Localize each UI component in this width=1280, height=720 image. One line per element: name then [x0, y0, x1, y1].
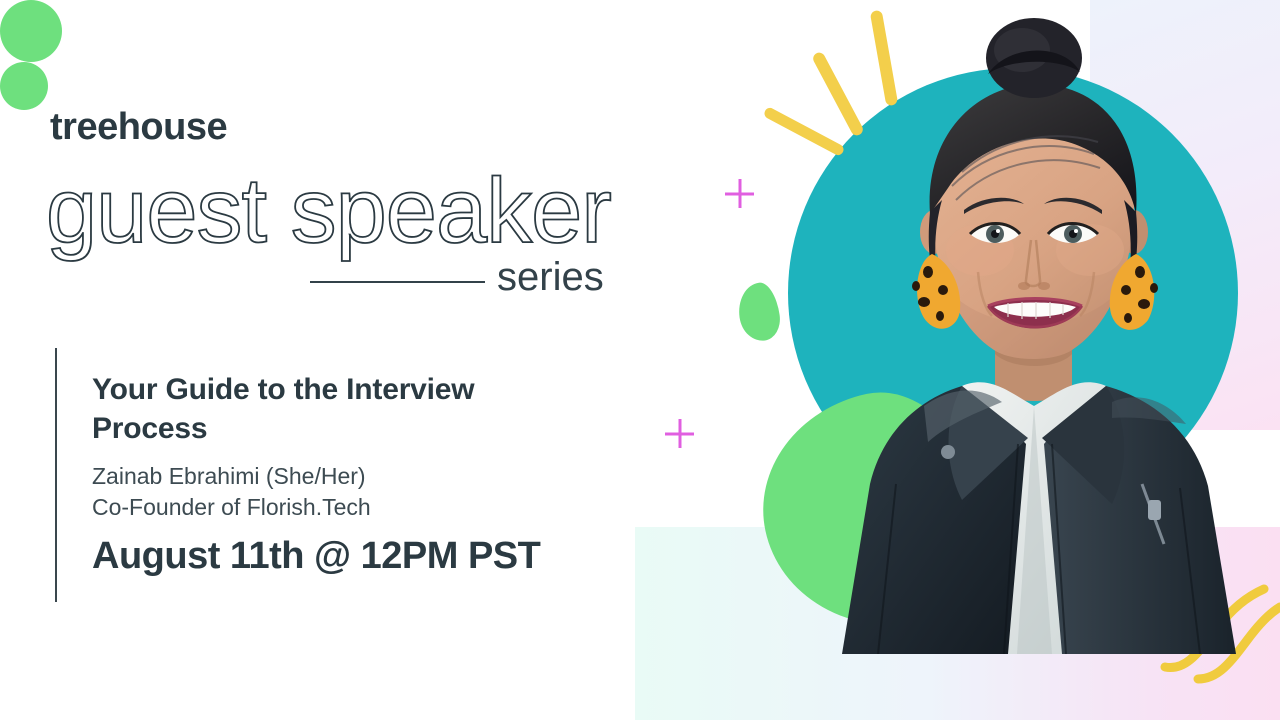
speaker-name: Zainab Ebrahimi (She/Her): [92, 461, 366, 492]
green-circle-top-right-shape: [0, 62, 48, 110]
speaker-portrait: [812, 14, 1252, 654]
green-blob-small-shape: [735, 280, 783, 343]
talk-title: Your Guide to the Interview Process: [92, 370, 552, 448]
series-divider-rule: [310, 281, 485, 283]
brand-wordmark: treehouse: [50, 108, 227, 146]
svg-text:guest speaker: guest speaker: [46, 160, 611, 262]
vertical-accent-rule: [55, 348, 57, 602]
event-datetime: August 11th @ 12PM PST: [92, 536, 540, 578]
series-label: series: [497, 257, 604, 297]
promo-slide: treehouse guest speaker series Your Guid…: [0, 0, 1280, 720]
green-circle-bottom-shape: [0, 0, 62, 62]
headline-outline-text: guest speaker: [44, 160, 664, 265]
plus-icon: [665, 419, 694, 448]
plus-icon: [725, 179, 754, 208]
speaker-role: Co-Founder of Florish.Tech: [92, 492, 371, 523]
